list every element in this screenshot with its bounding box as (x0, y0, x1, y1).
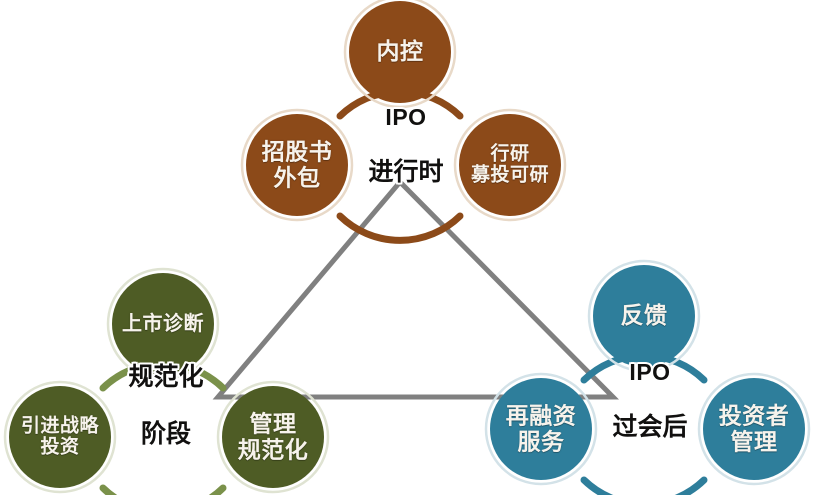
node-feedback[interactable] (593, 265, 695, 367)
node-strategic-investment[interactable] (9, 386, 111, 488)
diagram-canvas (0, 0, 832, 495)
node-industry-research[interactable] (459, 114, 561, 216)
node-prospectus-outsourcing[interactable] (246, 114, 348, 216)
ring-arc-bottom (340, 216, 460, 240)
ring-arc-bottom (584, 480, 704, 495)
cluster-ring-brown (340, 92, 460, 241)
connector-triangle-path (218, 182, 613, 397)
node-investor-relations[interactable] (703, 378, 805, 480)
node-listing-diagnosis[interactable] (112, 273, 214, 375)
cluster-ring-green (103, 364, 223, 495)
cluster-ipo-in-progress[interactable] (242, 0, 565, 240)
cluster-ring-blue (584, 356, 704, 495)
connector-triangle (218, 182, 613, 397)
cluster-ipo-after-approval[interactable] (486, 261, 809, 495)
node-management-standardization[interactable] (222, 386, 324, 488)
node-refinancing-service[interactable] (490, 378, 592, 480)
cluster-standardization-stage[interactable] (5, 269, 328, 495)
ring-arc-bottom (103, 488, 223, 495)
node-internal-control[interactable] (349, 1, 451, 103)
diagram-root: 内控 招股书 外包 行研 募投可研 上市诊断 引进战略 投资 管理 规范化 反馈… (0, 0, 832, 495)
